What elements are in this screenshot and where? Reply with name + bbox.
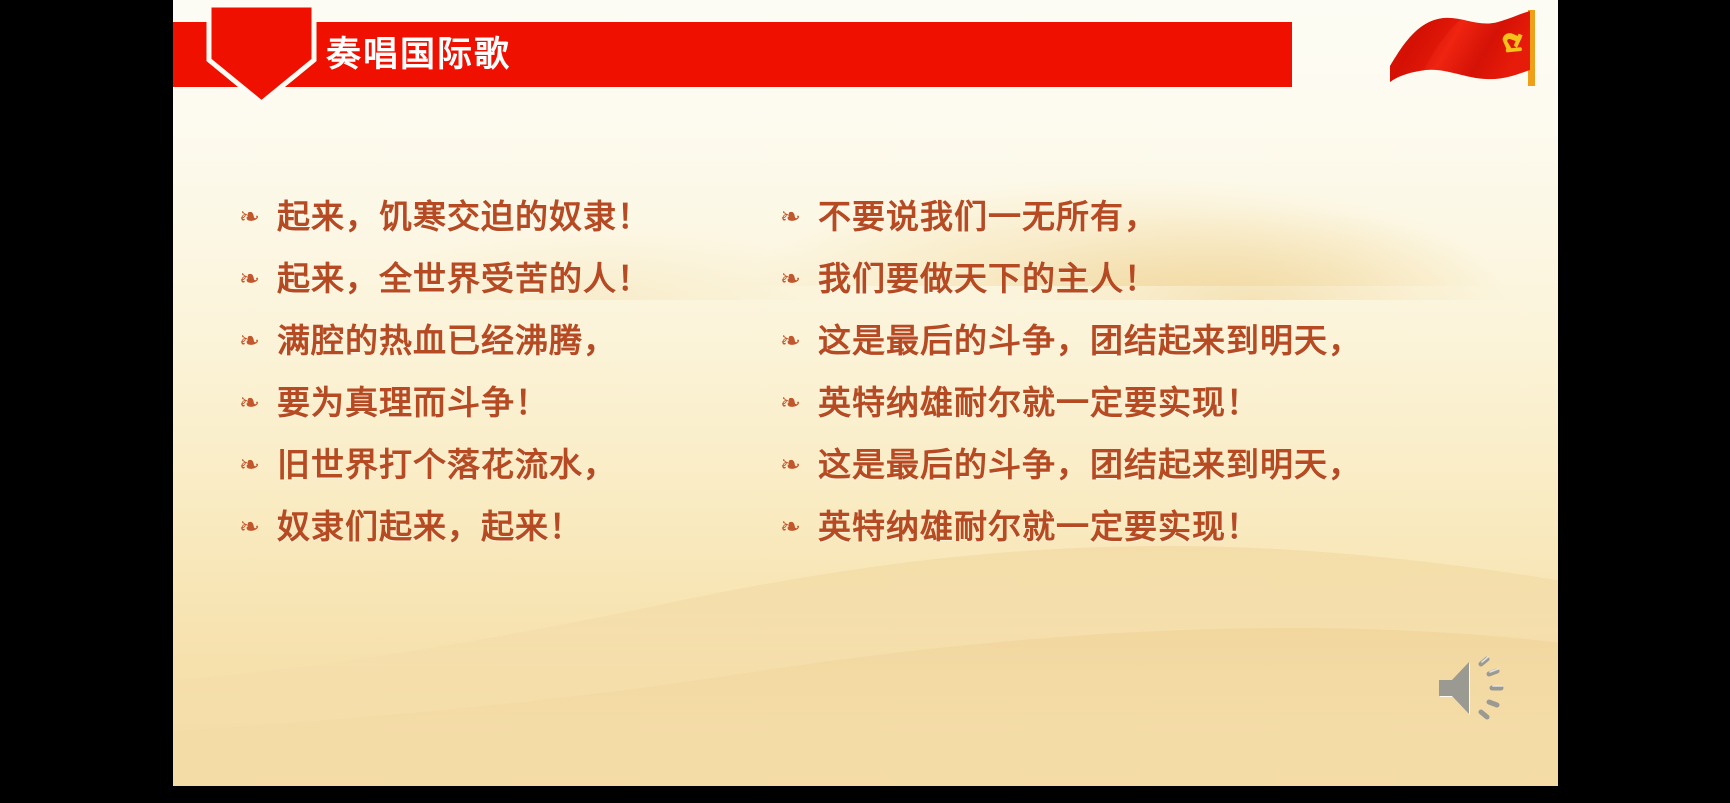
swirl-bullet-icon: ❧ [239, 204, 277, 229]
lyrics-container: ❧ 起来，饥寒交迫的奴隶！ ❧ 起来，全世界受苦的人！ ❧ 满腔的热血已经沸腾，… [173, 185, 1558, 585]
lyric-text: 英特纳雄耐尔就一定要实现！ [818, 376, 1260, 424]
lyric-text: 不要说我们一无所有， [818, 190, 1158, 238]
lyrics-column-left: ❧ 起来，饥寒交迫的奴隶！ ❧ 起来，全世界受苦的人！ ❧ 满腔的热血已经沸腾，… [173, 185, 718, 585]
speaker-sound-icon[interactable] [1435, 650, 1527, 728]
lyric-text: 英特纳雄耐尔就一定要实现！ [818, 500, 1260, 548]
swirl-bullet-icon: ❧ [239, 328, 277, 353]
lyric-text: 我们要做天下的主人！ [818, 252, 1158, 300]
lyric-line: ❧ 起来，全世界受苦的人！ [239, 247, 718, 305]
swirl-bullet-icon: ❧ [780, 328, 818, 353]
lyric-text: 要为真理而斗争！ [277, 376, 549, 424]
cpc-red-flag-icon [1376, 4, 1554, 92]
page-title: 奏唱国际歌 [173, 22, 1292, 87]
lyric-text: 满腔的热血已经沸腾， [277, 314, 617, 362]
swirl-bullet-icon: ❧ [239, 390, 277, 415]
swirl-bullet-icon: ❧ [239, 266, 277, 291]
lyrics-column-right: ❧ 不要说我们一无所有， ❧ 我们要做天下的主人！ ❧ 这是最后的斗争，团结起来… [718, 185, 1478, 585]
swirl-bullet-icon: ❧ [780, 390, 818, 415]
lyric-line: ❧ 不要说我们一无所有， [780, 185, 1478, 243]
swirl-bullet-icon: ❧ [239, 452, 277, 477]
lyric-line: ❧ 英特纳雄耐尔就一定要实现！ [780, 495, 1478, 553]
lyric-line: ❧ 这是最后的斗争，团结起来到明天， [780, 309, 1478, 367]
lyric-line: ❧ 起来，饥寒交迫的奴隶！ [239, 185, 718, 243]
presentation-slide: 奏唱国际歌 [173, 0, 1558, 786]
lyric-text: 奴隶们起来，起来！ [277, 500, 583, 548]
swirl-bullet-icon: ❧ [780, 514, 818, 539]
lyric-line: ❧ 我们要做天下的主人！ [780, 247, 1478, 305]
swirl-bullet-icon: ❧ [239, 514, 277, 539]
swirl-bullet-icon: ❧ [780, 266, 818, 291]
swirl-bullet-icon: ❧ [780, 452, 818, 477]
lyric-line: ❧ 要为真理而斗争！ [239, 371, 718, 429]
lyric-text: 起来，饥寒交迫的奴隶！ [277, 190, 651, 238]
lyric-line: ❧ 满腔的热血已经沸腾， [239, 309, 718, 367]
lyric-line: ❧ 这是最后的斗争，团结起来到明天， [780, 433, 1478, 491]
lyric-text: 这是最后的斗争，团结起来到明天， [818, 314, 1362, 362]
letterbox-stage: 奏唱国际歌 [0, 0, 1730, 803]
lyric-text: 这是最后的斗争，团结起来到明天， [818, 438, 1362, 486]
lyric-line: ❧ 英特纳雄耐尔就一定要实现！ [780, 371, 1478, 429]
swirl-bullet-icon: ❧ [780, 204, 818, 229]
lyric-text: 旧世界打个落花流水， [277, 438, 617, 486]
lyric-line: ❧ 奴隶们起来，起来！ [239, 495, 718, 553]
lyric-line: ❧ 旧世界打个落花流水， [239, 433, 718, 491]
lyric-text: 起来，全世界受苦的人！ [277, 252, 651, 300]
